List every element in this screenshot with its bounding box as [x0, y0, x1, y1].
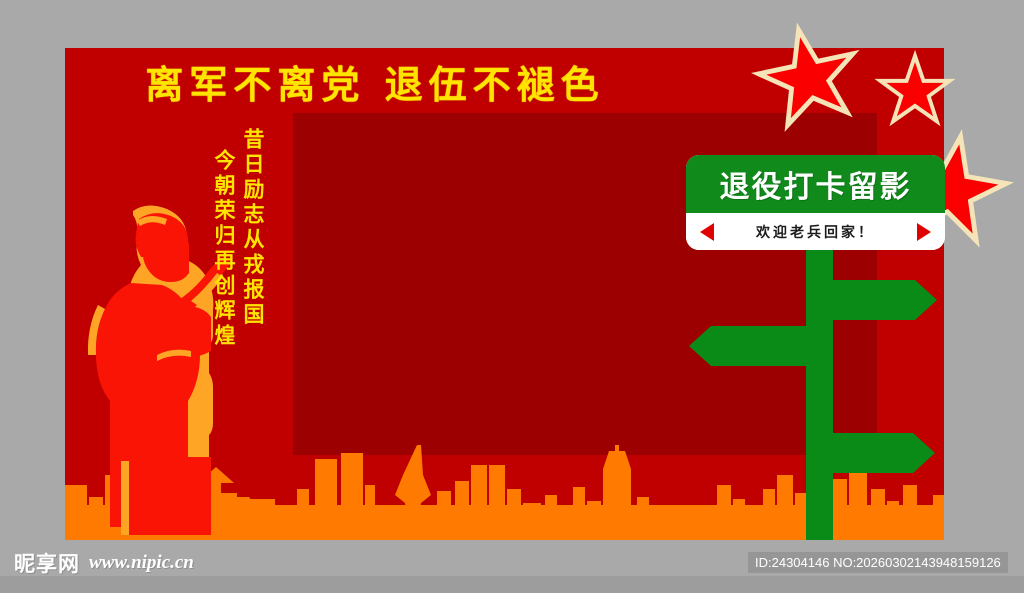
right-triangle-icon [917, 223, 931, 241]
checkin-sign-footer: 欢迎老兵回家！ [686, 213, 945, 250]
asset-id-label: ID:24304146 NO:20260302143948159126 [748, 552, 1008, 573]
watermark-logo: 昵享网 [14, 548, 80, 578]
watermark-url: www.nipic.cn [89, 552, 194, 574]
checkin-sign-title: 退役打卡留影 [720, 162, 912, 206]
footer-strip [0, 576, 1024, 593]
poster-panel [65, 48, 944, 540]
page-title: 离军不离党 退伍不褪色 [65, 55, 685, 107]
poster-canvas: 离军不离党 退伍不褪色 昔日励志从戎报国 今朝荣归再创辉煌 退役打卡留影 欢迎老… [0, 0, 1024, 593]
left-triangle-icon [700, 223, 714, 241]
checkin-sign-card[interactable]: 退役打卡留影 欢迎老兵回家！ [686, 155, 945, 250]
welcome-message: 欢迎老兵回家！ [756, 222, 875, 242]
checkin-sign-header: 退役打卡留影 [686, 155, 945, 213]
couplet-right: 昔日励志从戎报国 [242, 128, 263, 328]
couplet-left: 今朝荣归再创辉煌 [213, 149, 234, 349]
watermark: 昵享网 www.nipic.cn [14, 548, 194, 578]
